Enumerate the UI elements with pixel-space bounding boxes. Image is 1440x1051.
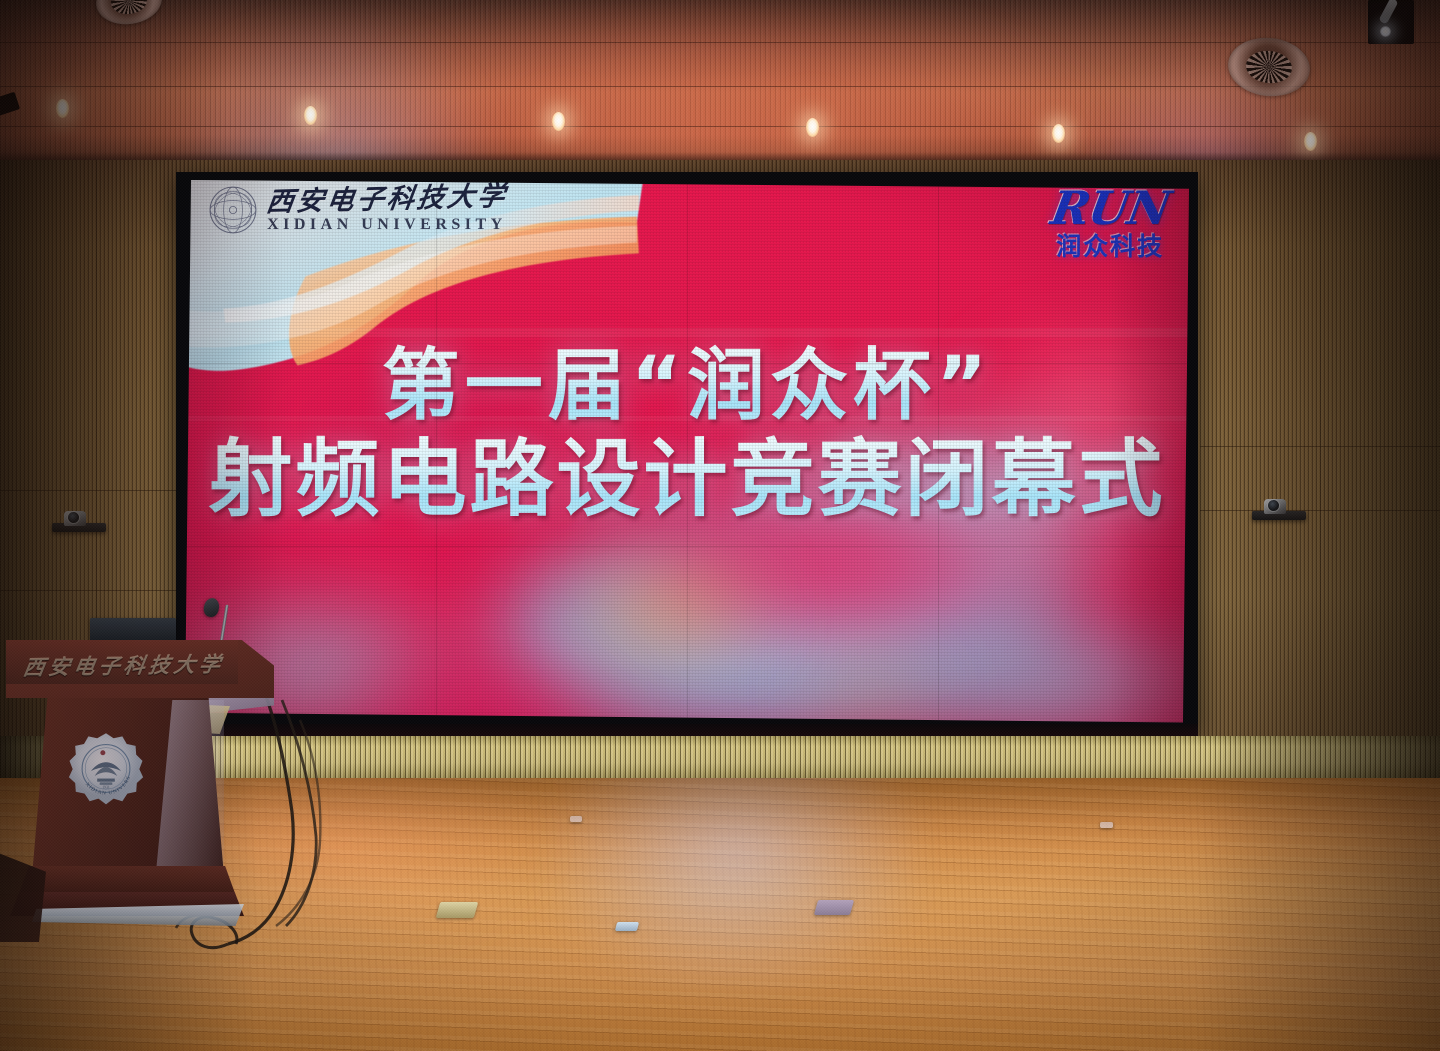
run-zhong-text: zhong — [1129, 180, 1177, 188]
skirt-shadow-right — [1210, 736, 1440, 780]
ceiling — [0, 0, 1440, 168]
podium-university-name: 西安电子科技大学 — [21, 648, 232, 682]
wall-shadow-right — [1170, 160, 1440, 780]
ceiling-vignette — [0, 0, 1440, 168]
emblem-year: 1931 — [102, 786, 110, 790]
screen-vignette — [185, 180, 1189, 728]
podium-plinth-upper — [18, 866, 236, 896]
lectern-podium: 西安电子科技大学 193 — [6, 604, 274, 934]
led-screen-bezel: 西安电子科技大学 XIDIAN UNIVERSITY RUN zhong 润众科… — [176, 172, 1198, 737]
auditorium-scene: 西安电子科技大学 XIDIAN UNIVERSITY RUN zhong 润众科… — [0, 0, 1440, 1051]
xidian-emblem-icon: 1931 XIDIAN UNIVERSITY — [68, 732, 144, 810]
led-screen-display: 西安电子科技大学 XIDIAN UNIVERSITY RUN zhong 润众科… — [185, 180, 1189, 728]
